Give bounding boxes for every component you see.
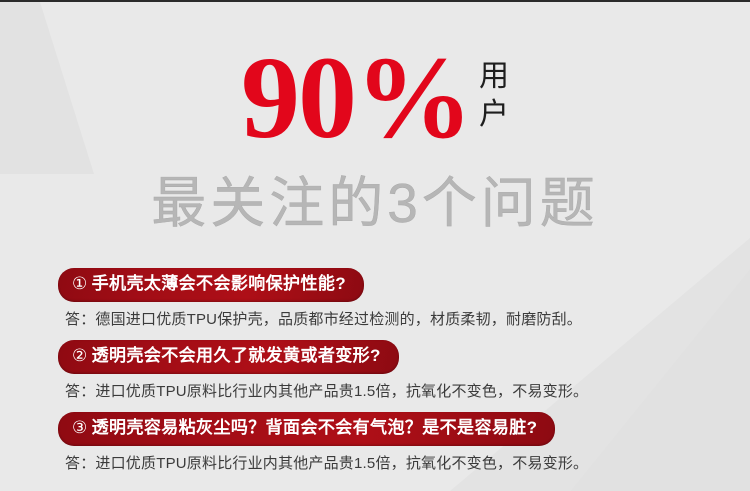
question-number: ① (72, 274, 88, 293)
percent-suffix-label: 用 户 (479, 58, 509, 134)
question-text: 透明壳会不会用久了就发黄或者变形? (92, 346, 381, 365)
answer-text: 答：进口优质TPU原料比行业内其他产品贵1.5倍，抗氧化不变色，不易变形。 (65, 381, 718, 403)
faq-list: ①手机壳太薄会不会影响保护性能? 答：德国进口优质TPU保护壳，品质都市经过检测… (58, 268, 718, 484)
faq-item: ②透明壳会不会用久了就发黄或者变形? 答：进口优质TPU原料比行业内其他产品贵1… (58, 340, 718, 403)
question-text: 透明壳容易粘灰尘吗？背面会不会有气泡？是不是容易脏? (92, 418, 538, 437)
suffix-char-1: 用 (479, 58, 509, 96)
question-number: ② (72, 346, 88, 365)
question-badge[interactable]: ②透明壳会不会用久了就发黄或者变形? (58, 340, 399, 374)
percent-value: 90% (241, 44, 471, 152)
page-subtitle: 最关注的3个问题 (0, 170, 750, 236)
promo-banner: 90% 用 户 最关注的3个问题 ①手机壳太薄会不会影响保护性能? 答：德国进口… (0, 0, 750, 491)
question-badge[interactable]: ③透明壳容易粘灰尘吗？背面会不会有气泡？是不是容易脏? (58, 412, 555, 446)
answer-text: 答：德国进口优质TPU保护壳，品质都市经过检测的，材质柔韧，耐磨防刮。 (65, 309, 718, 331)
answer-text: 答：进口优质TPU原料比行业内其他产品贵1.5倍，抗氧化不变色，不易变形。 (65, 453, 718, 475)
faq-item: ①手机壳太薄会不会影响保护性能? 答：德国进口优质TPU保护壳，品质都市经过检测… (58, 268, 718, 331)
top-border-line (0, 0, 750, 2)
question-text: 手机壳太薄会不会影响保护性能? (92, 274, 346, 293)
question-number: ③ (72, 418, 88, 437)
faq-item: ③透明壳容易粘灰尘吗？背面会不会有气泡？是不是容易脏? 答：进口优质TPU原料比… (58, 412, 718, 475)
suffix-char-2: 户 (479, 96, 509, 134)
headline: 90% 用 户 (0, 44, 750, 156)
question-badge[interactable]: ①手机壳太薄会不会影响保护性能? (58, 268, 364, 302)
